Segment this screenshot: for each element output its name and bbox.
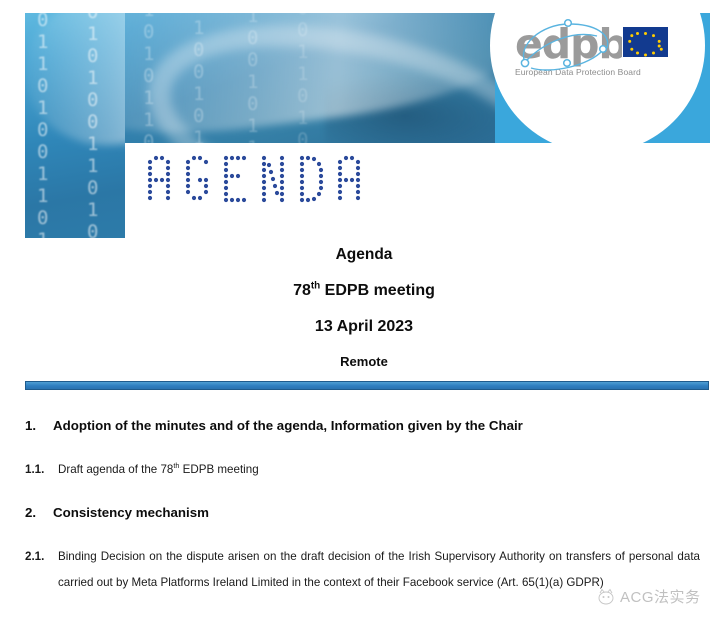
item-text-suffix: EDPB meeting [179, 463, 258, 476]
meeting-location: Remote [0, 354, 728, 369]
title-block: Agenda 78th EDPB meeting 13 April 2023 R… [0, 246, 728, 369]
binary-code-image-left: 0 1 1 0 1 0 0 1 0 1 0 1 0 0 1 1 1 0 1 0 … [25, 13, 125, 238]
eu-flag-icon [622, 26, 669, 58]
item-number: 2.1. [25, 544, 58, 570]
meeting-date: 13 April 2023 [0, 318, 728, 336]
edpb-logo: edpb European Data Protection Board [515, 22, 680, 92]
watermark: ACG法实务 [596, 586, 701, 607]
section-number: 1. [25, 418, 53, 433]
ordinal-suffix: th [311, 281, 320, 292]
section-title: Adoption of the minutes and of the agend… [53, 418, 523, 433]
logo-network-orbit-icon [511, 16, 623, 78]
item-number: 1.1. [25, 457, 58, 483]
document-title: Agenda [0, 246, 728, 264]
meeting-number-line: 78th EDPB meeting [0, 282, 728, 300]
header-right-margin [710, 0, 728, 240]
section-heading-1: 1. Adoption of the minutes and of the ag… [0, 418, 728, 433]
section-divider [25, 381, 709, 390]
agenda-document-page: 0 1 1 0 1 0 0 1 0 1 0 1 0 0 1 1 1 0 1 0 … [0, 0, 728, 640]
binary-column: 1 0 1 0 1 1 0 0 [37, 185, 48, 238]
mascot-icon [596, 588, 616, 606]
meeting-number: 78 [293, 282, 311, 299]
item-text-prefix: Draft agenda of the 78 [58, 463, 173, 476]
binary-column: 0 1 0 0 1 0 1 1 [87, 177, 98, 238]
section-title: Consistency mechanism [53, 505, 209, 520]
section-number: 2. [25, 505, 53, 520]
meeting-label: EDPB meeting [320, 282, 435, 299]
section-heading-2: 2. Consistency mechanism [0, 505, 728, 520]
agenda-item-1-1: 1.1. Draft agenda of the 78th EDPB meeti… [0, 457, 728, 483]
document-header-banner: 0 1 1 0 1 0 0 1 0 1 0 1 0 0 1 1 1 0 1 0 … [0, 0, 728, 240]
watermark-label: ACG法实务 [620, 586, 701, 607]
item-text: Draft agenda of the 78th EDPB meeting [58, 457, 700, 483]
agenda-wordmark [142, 152, 382, 204]
